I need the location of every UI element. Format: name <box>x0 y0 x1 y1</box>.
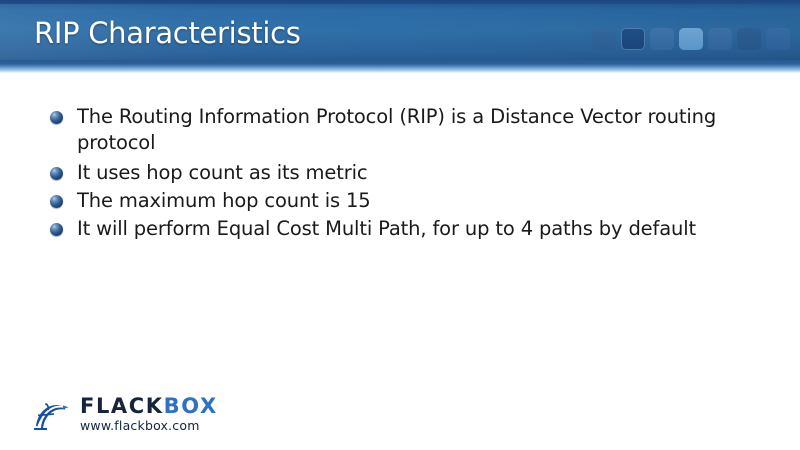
header-square-1 <box>592 28 616 50</box>
list-item: It uses hop count as its metric <box>50 160 790 186</box>
header-square-2 <box>621 28 645 50</box>
header-square-4 <box>679 28 703 50</box>
flackbox-swoosh-icon <box>30 397 74 431</box>
header-square-3 <box>650 28 674 50</box>
bullet-sphere-icon <box>50 195 63 208</box>
slide-header-band: RIP Characteristics <box>0 0 800 73</box>
list-item: It will perform Equal Cost Multi Path, f… <box>50 216 790 242</box>
header-square-5 <box>708 28 732 50</box>
flackbox-logo: FLACKBOX www.flackbox.com <box>30 396 218 433</box>
list-item: The Routing Information Protocol (RIP) i… <box>50 104 790 156</box>
bullet-sphere-icon <box>50 167 63 180</box>
header-square-6 <box>737 28 761 50</box>
header-square-7 <box>766 28 790 50</box>
flackbox-url: www.flackbox.com <box>80 420 218 433</box>
list-item-label: The Routing Information Protocol (RIP) i… <box>77 104 790 156</box>
flackbox-wordmark: FLACKBOX <box>80 396 218 417</box>
slide: RIP Characteristics The Routing Informat… <box>0 0 800 450</box>
list-item-label: It will perform Equal Cost Multi Path, f… <box>77 216 696 242</box>
list-item: The maximum hop count is 15 <box>50 188 790 214</box>
list-item-label: The maximum hop count is 15 <box>77 188 371 214</box>
flackbox-wordmark-primary: FLACK <box>80 394 164 418</box>
flackbox-logo-text: FLACKBOX www.flackbox.com <box>80 396 218 433</box>
header-top-rule <box>0 0 800 4</box>
bullet-list: The Routing Information Protocol (RIP) i… <box>50 104 790 244</box>
header-square-decoration <box>592 28 790 50</box>
bullet-sphere-icon <box>50 223 63 236</box>
page-title: RIP Characteristics <box>34 16 301 50</box>
flackbox-wordmark-secondary: BOX <box>164 394 218 418</box>
bullet-sphere-icon <box>50 111 63 124</box>
list-item-label: It uses hop count as its metric <box>77 160 367 186</box>
